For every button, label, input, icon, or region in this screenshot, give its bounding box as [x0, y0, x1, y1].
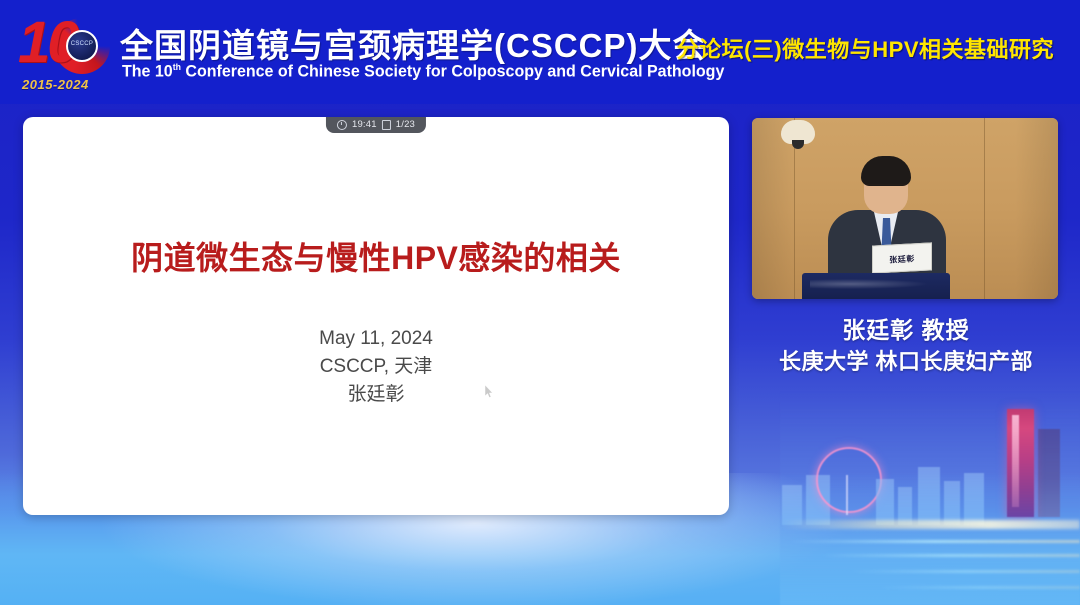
conference-title-chinese: 全国阴道镜与宫颈病理学(CSCCP)大会: [120, 19, 707, 67]
skyline-building: [876, 479, 894, 525]
mouse-cursor-icon: [485, 385, 494, 399]
speaker-hair: [861, 156, 911, 186]
logo-emblem-icon: CSCCP: [66, 30, 98, 62]
skyline-shore-lights: [780, 520, 1080, 529]
slide-subtitle-block: May 11, 2024 CSCCP, 天津 张廷彰: [23, 325, 729, 409]
title-en-prefix: The 10: [122, 63, 173, 81]
speaker-video-feed[interactable]: 张廷彰: [752, 118, 1058, 299]
presentation-slide-panel[interactable]: 19:41 1/23 阴道微生态与慢性HPV感染的相关 May 11, 2024…: [23, 117, 729, 515]
page-icon: [382, 120, 391, 130]
skyline-building: [782, 485, 802, 525]
slide-subtitle-date: May 11, 2024: [23, 325, 729, 353]
logo-years-label: 2015-2024: [22, 77, 89, 92]
podium-nameplate: 张廷彰: [872, 242, 932, 273]
water-reflection: [820, 554, 1080, 557]
clock-icon: [337, 120, 347, 130]
slide-status-badge: 19:41 1/23: [326, 117, 426, 133]
podium-nameplate-text: 张廷彰: [873, 252, 931, 266]
ceiling-camera-icon: [781, 120, 815, 144]
slide-subtitle-author: 张廷彰: [23, 381, 729, 409]
conference-header-banner: 10 CSCCP 2015-2024 全国阴道镜与宫颈病理学(CSCCP)大会 …: [0, 0, 1080, 104]
skyline-tower-dark: [1038, 429, 1060, 517]
skyline-building: [964, 473, 984, 525]
speaker-name: 张廷彰 教授: [740, 314, 1072, 346]
speaker-affiliation: 长庚大学 林口长庚妇产部: [740, 346, 1072, 378]
speaker-info-block: 张廷彰 教授 长庚大学 林口长庚妇产部: [740, 314, 1072, 378]
title-en-ordinal: th: [173, 62, 181, 72]
slide-subtitle-venue: CSCCP, 天津: [23, 353, 729, 381]
logo-emblem-label: CSCCP: [68, 41, 96, 48]
skyline-tower-lit: [1007, 409, 1034, 517]
broadcast-screen: 10 CSCCP 2015-2024 全国阴道镜与宫颈病理学(CSCCP)大会 …: [0, 0, 1080, 605]
wall-seam: [984, 118, 985, 299]
ferris-wheel-icon: [816, 447, 882, 513]
speaker-glasses: [866, 184, 906, 193]
tianjin-skyline-graphic: [780, 390, 1080, 605]
skyline-building: [918, 467, 940, 525]
water-reflection: [850, 570, 1080, 573]
elapsed-time: 19:41: [352, 119, 377, 130]
title-en-rest: Conference of Chinese Society for Colpos…: [181, 63, 724, 81]
slide-title: 阴道微生态与慢性HPV感染的相关: [23, 233, 729, 279]
conference-title-english: The 10th Conference of Chinese Society f…: [122, 62, 724, 82]
water-reflection: [880, 586, 1080, 589]
page-counter: 1/23: [396, 119, 415, 130]
skyline-building: [944, 481, 960, 525]
podium: [802, 273, 950, 299]
session-label: 分论坛(三)微生物与HPV相关基础研究: [677, 32, 1054, 64]
water-reflection: [790, 540, 1080, 543]
conference-logo: 10 CSCCP 2015-2024: [16, 8, 116, 94]
